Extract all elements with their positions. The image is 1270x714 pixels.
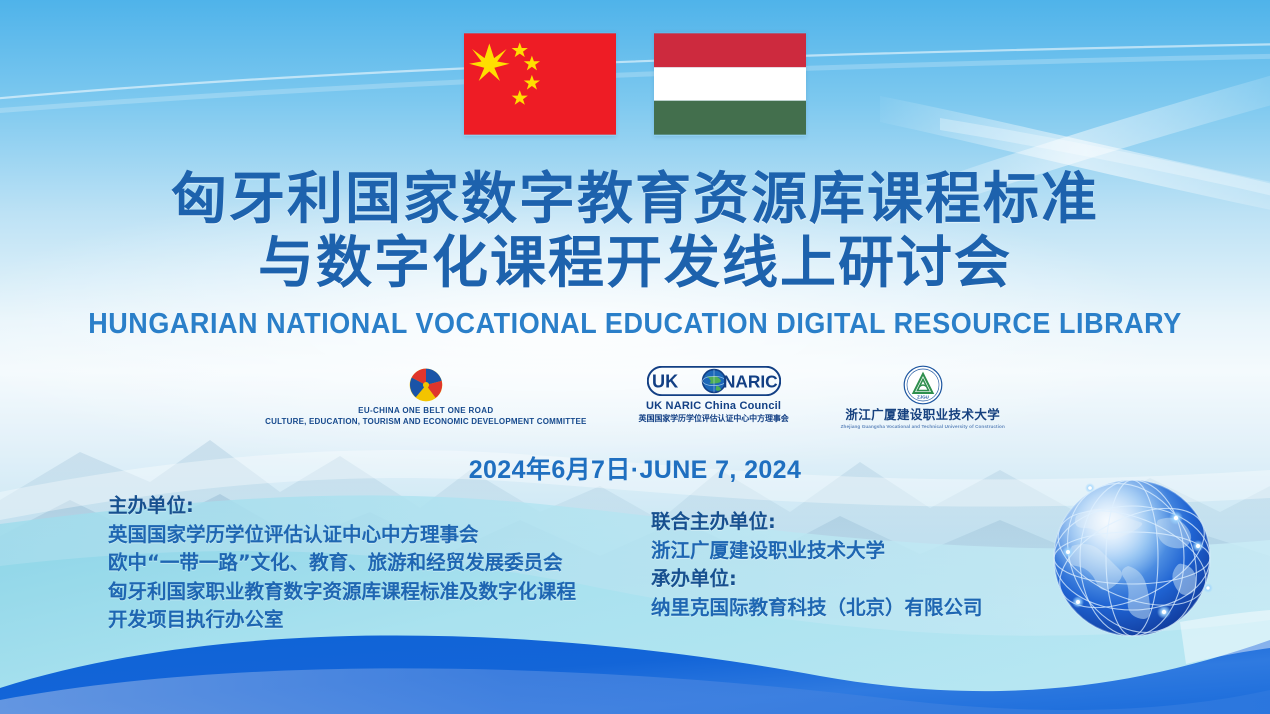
zhejiang-guangsha-seal-icon: ZJGU bbox=[903, 365, 943, 405]
logo-uk-naric: UK NARIC UK NARIC China Council 英国国家学历学位… bbox=[639, 366, 789, 424]
title-block: 匈牙利国家数字教育资源库课程标准 与数字化课程开发线上研讨会 HUNGARIAN… bbox=[0, 168, 1270, 341]
eu-china-caption-1: EU-CHINA ONE BELT ONE ROAD bbox=[265, 405, 586, 416]
organizer-heading: 主办单位: bbox=[108, 492, 576, 521]
uk-naric-caption-1: UK NARIC China Council bbox=[639, 399, 789, 413]
title-line-1: 匈牙利国家数字教育资源库课程标准 bbox=[0, 168, 1270, 232]
organizer-item: 匈牙利国家职业教育数字资源库课程标准及数字化课程 bbox=[108, 578, 576, 607]
co-organizer-item: 浙江广厦建设职业技术大学 bbox=[651, 537, 983, 566]
organizer-item: 英国国家学历学位评估认证中心中方理事会 bbox=[108, 521, 576, 550]
title-line-2: 与数字化课程开发线上研讨会 bbox=[0, 232, 1270, 296]
zhejiang-caption-1: 浙江广厦建设职业技术大学 bbox=[841, 408, 1005, 423]
flag-row bbox=[0, 32, 1270, 136]
china-flag bbox=[464, 32, 616, 136]
poster-canvas: 匈牙利国家数字教育资源库课程标准 与数字化课程开发线上研讨会 HUNGARIAN… bbox=[0, 0, 1270, 714]
organizer-item: 开发项目执行办公室 bbox=[108, 606, 576, 635]
host-item: 纳里克国际教育科技（北京）有限公司 bbox=[651, 594, 983, 623]
co-organizer-heading: 联合主办单位: bbox=[651, 508, 983, 537]
organizers-right: 联合主办单位: 浙江广厦建设职业技术大学 承办单位: 纳里克国际教育科技（北京）… bbox=[651, 508, 983, 622]
svg-text:NARIC: NARIC bbox=[722, 371, 777, 391]
network-globe-graphic bbox=[1032, 460, 1232, 660]
eu-china-caption-2: CULTURE, EDUCATION, TOURISM AND ECONOMIC… bbox=[265, 416, 586, 427]
logo-row: EU-CHINA ONE BELT ONE ROAD CULTURE, EDUC… bbox=[0, 368, 1270, 430]
svg-text:UK: UK bbox=[652, 371, 678, 391]
uk-naric-wordmark-icon: UK NARIC bbox=[647, 366, 781, 396]
uk-naric-caption-2: 英国国家学历学位评估认证中心中方理事会 bbox=[639, 413, 789, 424]
eu-china-belt-road-icon bbox=[409, 368, 443, 402]
organizer-item: 欧中“一带一路”文化、教育、旅游和经贸发展委员会 bbox=[108, 549, 576, 578]
zhejiang-caption-2: Zhejiang Guangsha Vocational and Technic… bbox=[841, 423, 1005, 429]
subtitle-english: HUNGARIAN NATIONAL VOCATIONAL EDUCATION … bbox=[44, 308, 1225, 341]
hungary-flag bbox=[654, 32, 806, 136]
organizers-left: 主办单位: 英国国家学历学位评估认证中心中方理事会 欧中“一带一路”文化、教育、… bbox=[108, 492, 576, 635]
svg-text:ZJGU: ZJGU bbox=[917, 395, 929, 400]
host-heading: 承办单位: bbox=[651, 565, 983, 594]
logo-eu-china: EU-CHINA ONE BELT ONE ROAD CULTURE, EDUC… bbox=[265, 368, 586, 427]
logo-zhejiang-guangsha: ZJGU 浙江广厦建设职业技术大学 Zhejiang Guangsha Voca… bbox=[841, 365, 1005, 430]
